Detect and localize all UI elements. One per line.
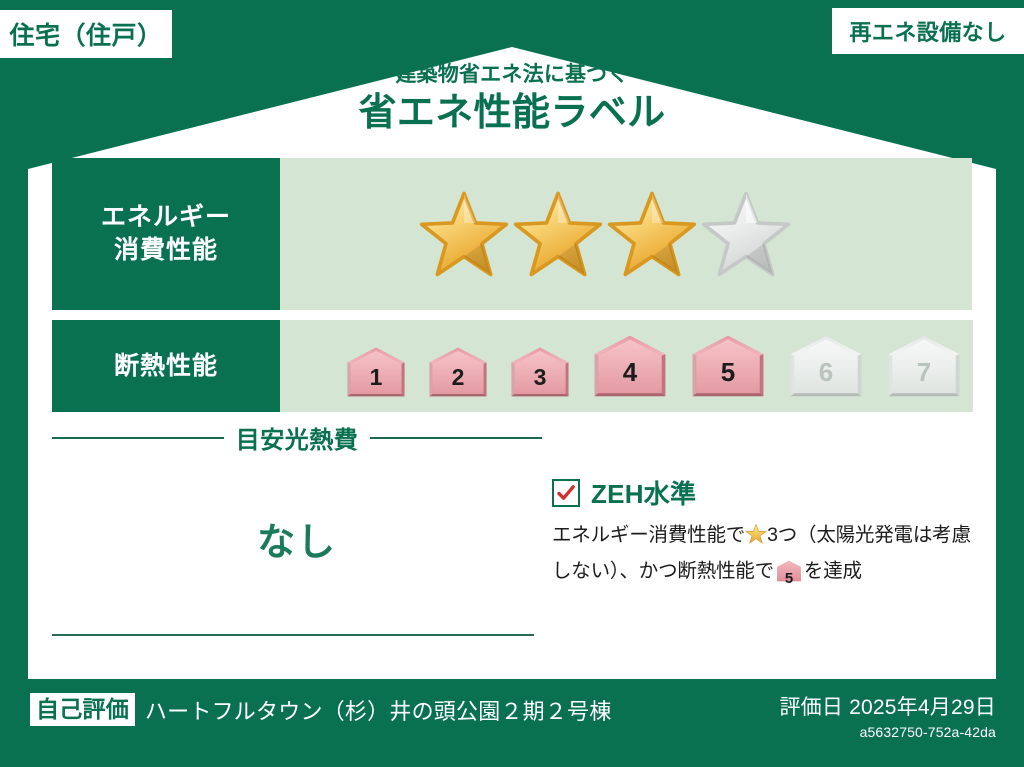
evaluation-id: a5632750-752a-42da [779,724,996,740]
star-icon [745,523,767,556]
zeh-checkbox[interactable] [552,479,580,507]
house-level-6: 6 [777,335,875,397]
house-icon [777,335,875,397]
energy-performance-label: 住宅（住戸） 再エネ設備なし 建築物省エネ法に基づく 省エネ性能ラベル エネルギ… [0,0,1024,767]
house-icon [417,347,499,397]
star-icon-filled [606,188,698,280]
inline-house-badge: 5 [776,560,802,593]
utility-cost-section: 目安光熱費 なし [52,420,542,566]
zeh-desc-part1: エネルギー消費性能で [552,524,745,546]
insulation-label: 断熱性能 [114,350,218,383]
star-rating [418,188,792,280]
house-level-3: 3 [499,347,581,397]
check-icon [556,483,576,503]
footer-left-group: 自己評価 ハートフルタウン（杉）井の頭公園２期２号棟 [30,693,612,726]
house-level-2: 2 [417,347,499,397]
energy-rating-panel [280,158,972,310]
star-icon-filled [512,188,604,280]
zeh-description: エネルギー消費性能で3つ（太陽光発電は考慮しない）、かつ断熱性能で5を達成 [552,520,972,592]
house-level-5: 5 [679,335,777,397]
zeh-desc-part3: を達成 [804,560,862,582]
evaluation-date: 評価日 2025年4月29日 [779,691,996,721]
renewable-energy-badge: 再エネ設備なし [832,8,1024,54]
insulation-performance-label-block: 断熱性能 [52,320,280,412]
utility-cost-heading: 目安光熱費 [236,420,358,455]
zeh-title: ZEH水準 [591,474,696,511]
footer-right-group: 評価日 2025年4月29日 a5632750-752a-42da [779,691,996,740]
divider-right [370,437,542,439]
property-name: ハートフルタウン（杉）井の頭公園２期２号棟 [145,694,612,726]
zeh-section: ZEH水準 エネルギー消費性能で3つ（太陽光発電は考慮しない）、かつ断熱性能で5… [552,474,972,592]
insulation-performance-row: 断熱性能 1234567 [52,320,972,412]
star-icon-empty [700,188,792,280]
utility-cost-heading-row: 目安光熱費 [52,420,542,455]
star-icon-filled [418,188,510,280]
utility-cost-value: なし [52,511,542,566]
inline-house-number: 5 [776,567,802,591]
house-rating-scale: 1234567 [335,335,973,397]
divider-left [52,437,224,439]
house-icon [581,335,679,397]
house-level-4: 4 [581,335,679,397]
insulation-rating-panel: 1234567 [280,320,973,412]
energy-performance-label-block: エネルギー 消費性能 [52,158,280,310]
building-type-badge: 住宅（住戸） [0,10,172,58]
house-icon [875,335,973,397]
utility-cost-bottom-divider [52,634,534,636]
energy-label-line2: 消費性能 [114,234,218,267]
house-level-7: 7 [875,335,973,397]
house-icon [335,347,417,397]
house-level-1: 1 [335,347,417,397]
house-icon [679,335,777,397]
self-evaluation-badge: 自己評価 [30,693,135,726]
label-footer: 自己評価 ハートフルタウン（杉）井の頭公園２期２号棟 評価日 2025年4月29… [0,679,1024,767]
energy-label-line1: エネルギー [101,201,231,234]
house-icon [499,347,581,397]
zeh-title-row: ZEH水準 [552,474,972,511]
energy-performance-row: エネルギー 消費性能 [52,158,972,310]
